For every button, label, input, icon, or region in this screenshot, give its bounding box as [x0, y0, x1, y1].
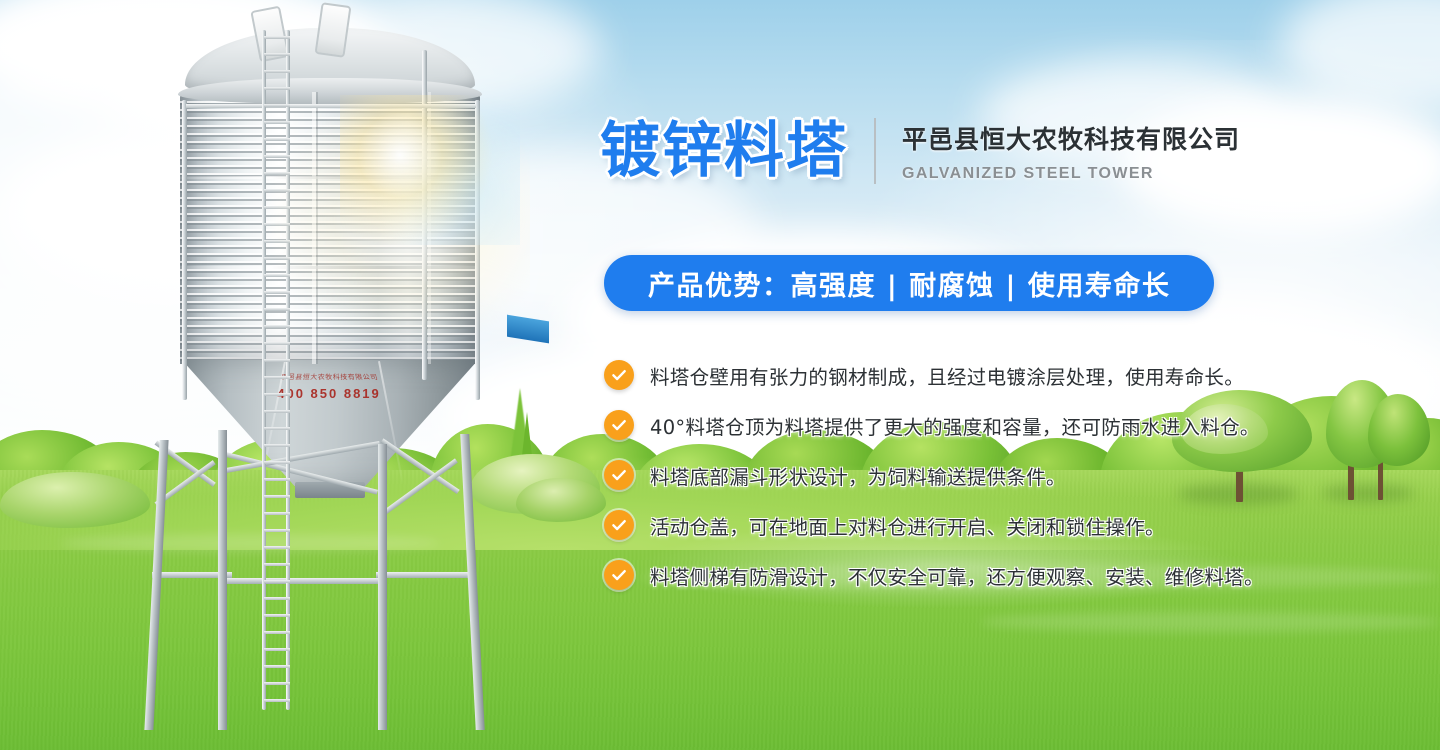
- ladder-rung: [264, 172, 290, 175]
- advantage-label: 产品优势：高强度 | 耐腐蚀 | 使用寿命长: [648, 264, 1170, 303]
- silo-leg: [460, 434, 485, 730]
- ladder-rung: [264, 359, 290, 362]
- advantage-badge: 产品优势：高强度 | 耐腐蚀 | 使用寿命长: [604, 255, 1214, 311]
- ladder-rung: [264, 342, 290, 345]
- ladder-rung: [264, 189, 290, 192]
- silo-body-band: [180, 176, 480, 179]
- silo-top-rail: [186, 104, 476, 108]
- ladder-rung: [264, 563, 290, 566]
- silo-horizontal-tie: [376, 572, 474, 578]
- ladder-rung: [264, 155, 290, 158]
- check-circle-icon: [604, 510, 634, 540]
- title-row: 镀锌料塔 平邑县恒大农牧科技有限公司 GALVANIZED STEEL TOWE…: [600, 118, 1240, 184]
- ladder-rung: [264, 478, 290, 481]
- feature-item: 料塔侧梯有防滑设计，不仅安全可靠，还方便观察、安装、维修料塔。: [604, 550, 1434, 600]
- silo-vertical-rail: [182, 100, 187, 400]
- ladder-rung: [264, 614, 290, 617]
- ladder-rung: [264, 444, 290, 447]
- title-divider: [874, 118, 876, 184]
- ladder-rail: [262, 30, 266, 710]
- silo-body-band: [180, 266, 480, 269]
- ladder-rung: [264, 546, 290, 549]
- check-circle-icon: [604, 460, 634, 490]
- ladder-rung: [264, 223, 290, 226]
- ladder-rung: [264, 138, 290, 141]
- ladder-rung: [264, 410, 290, 413]
- ladder-rung: [264, 87, 290, 90]
- ladder-rung: [264, 308, 290, 311]
- ladder-rung: [264, 597, 290, 600]
- ladder-rung: [264, 376, 290, 379]
- feature-item: 料塔底部漏斗形状设计，为饲料输送提供条件。: [604, 450, 1434, 500]
- silo-leg: [218, 430, 227, 730]
- ladder-rung: [264, 104, 290, 107]
- title-right-block: 平邑县恒大农牧科技有限公司 GALVANIZED STEEL TOWER: [902, 120, 1240, 183]
- feature-item: 活动仓盖，可在地面上对料仓进行开启、关闭和锁住操作。: [604, 500, 1434, 550]
- banner-content: 镀锌料塔 平邑县恒大农牧科技有限公司 GALVANIZED STEEL TOWE…: [600, 0, 1440, 750]
- ladder-rung: [264, 631, 290, 634]
- feature-text: 料塔侧梯有防滑设计，不仅安全可靠，还方便观察、安装、维修料塔。: [650, 561, 1264, 590]
- page-title: 镀锌料塔: [600, 121, 848, 181]
- check-circle-icon: [604, 360, 634, 390]
- ladder-rung: [264, 325, 290, 328]
- ladder-rung: [264, 257, 290, 260]
- feature-item: 40°料塔仓顶为料塔提供了更大的强度和容量，还可防雨水进入料仓。: [604, 400, 1434, 450]
- feature-text: 料塔仓壁用有张力的钢材制成，且经过电镀涂层处理，使用寿命长。: [650, 361, 1244, 390]
- ladder-rung: [264, 529, 290, 532]
- silo-horizontal-tie: [220, 578, 382, 584]
- ladder-rung: [264, 665, 290, 668]
- silo-body-seam: [180, 92, 480, 364]
- ladder-rung: [264, 36, 290, 39]
- feature-list: 料塔仓壁用有张力的钢材制成，且经过电镀涂层处理，使用寿命长。40°料塔仓顶为料塔…: [604, 350, 1434, 600]
- feature-item: 料塔仓壁用有张力的钢材制成，且经过电镀涂层处理，使用寿命长。: [604, 350, 1434, 400]
- feature-text: 活动仓盖，可在地面上对料仓进行开启、关闭和锁住操作。: [650, 511, 1165, 540]
- ladder-rung: [264, 291, 290, 294]
- ladder-rung: [264, 699, 290, 702]
- feature-text: 40°料塔仓顶为料塔提供了更大的强度和容量，还可防雨水进入料仓。: [650, 411, 1260, 440]
- ladder-rung: [264, 70, 290, 73]
- ladder-rung: [264, 240, 290, 243]
- ladder-rung: [264, 648, 290, 651]
- ladder-rung: [264, 512, 290, 515]
- silo-vertical-rail: [475, 100, 480, 400]
- ladder-rung: [264, 393, 290, 396]
- silo-side-ladder: [262, 30, 292, 710]
- ladder-rung: [264, 495, 290, 498]
- ladder-rung: [264, 427, 290, 430]
- ladder-rung: [264, 580, 290, 583]
- feature-text: 料塔底部漏斗形状设计，为饲料输送提供条件。: [650, 461, 1066, 490]
- company-name: 平邑县恒大农牧科技有限公司: [902, 120, 1240, 156]
- ladder-rung: [264, 206, 290, 209]
- galvanized-silo-image: 平邑县恒大农牧科技有限公司 400 850 8819: [90, 0, 560, 750]
- banner-stage: 平邑县恒大农牧科技有限公司 400 850 8819: [0, 0, 1440, 750]
- ladder-rail: [286, 30, 290, 710]
- silo-leg: [378, 444, 387, 730]
- silo-blue-fitting: [507, 315, 549, 344]
- company-name-english: GALVANIZED STEEL TOWER: [902, 165, 1240, 183]
- ladder-rung: [264, 461, 290, 464]
- ladder-rung: [264, 274, 290, 277]
- ladder-rung: [264, 682, 290, 685]
- ladder-rung: [264, 53, 290, 56]
- silo-leg: [144, 440, 168, 730]
- check-circle-icon: [604, 410, 634, 440]
- check-circle-icon: [604, 560, 634, 590]
- silo-vertical-rail: [422, 50, 427, 380]
- ladder-rung: [264, 121, 290, 124]
